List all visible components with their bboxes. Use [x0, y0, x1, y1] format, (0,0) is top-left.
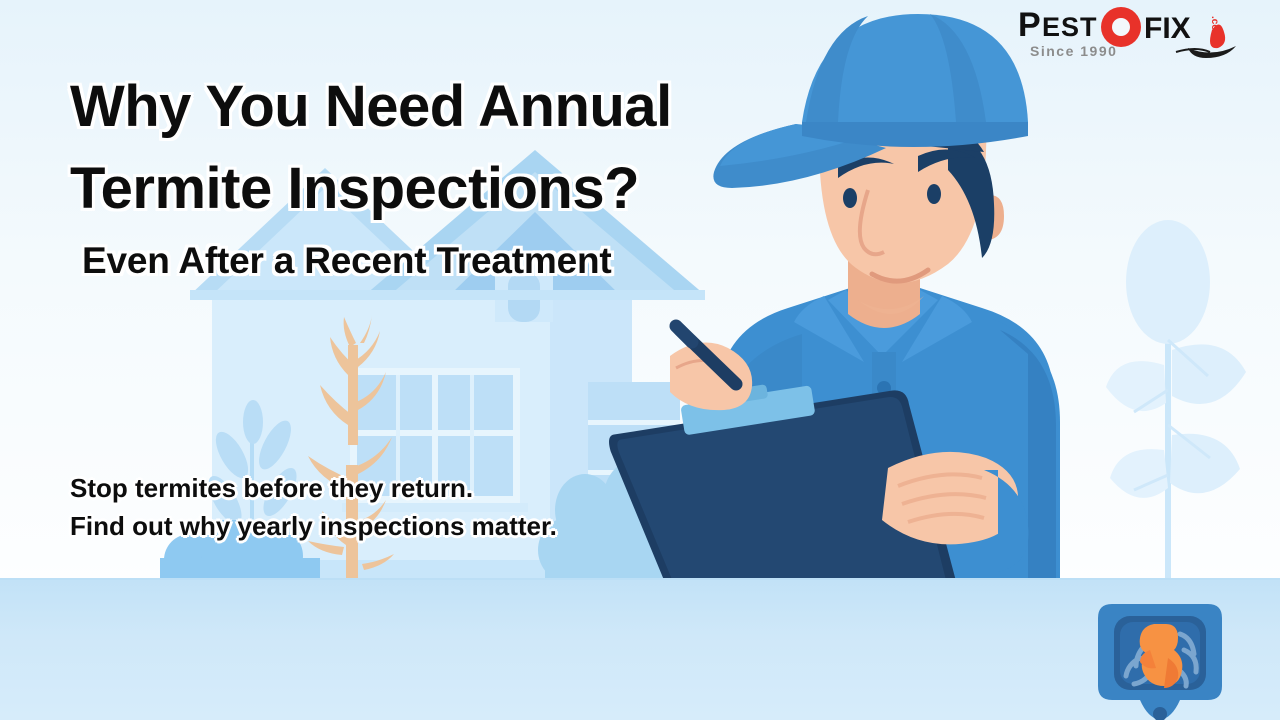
ground-background [0, 580, 1280, 720]
logo-text-est: EST [1042, 12, 1098, 42]
subtext-line-2: Find out why yearly inspections matter. [70, 508, 690, 546]
headline-block: Why You Need Annual Termite Inspections?… [70, 78, 830, 279]
termite-inspection-banner: P EST FIX .com Since 1990 Why You Need A… [0, 0, 1280, 720]
pest-control-badge[interactable] [1094, 598, 1226, 720]
headline-line-2: Termite Inspections? [70, 160, 830, 218]
headline-line-3: Even After a Recent Treatment [82, 242, 830, 279]
logo-tagline: Since 1990 [1030, 43, 1117, 59]
logo-text-fix: FIX [1144, 12, 1191, 45]
subtext-line-1: Stop termites before they return. [70, 470, 690, 508]
logo-text-pest: P [1018, 6, 1041, 44]
subtext-block: Stop termites before they return. Find o… [70, 470, 690, 545]
headline-line-1: Why You Need Annual [70, 78, 830, 136]
pestofix-logo[interactable]: P EST FIX .com Since 1990 [1016, 4, 1266, 62]
logo-swoosh-icon [1188, 46, 1236, 58]
